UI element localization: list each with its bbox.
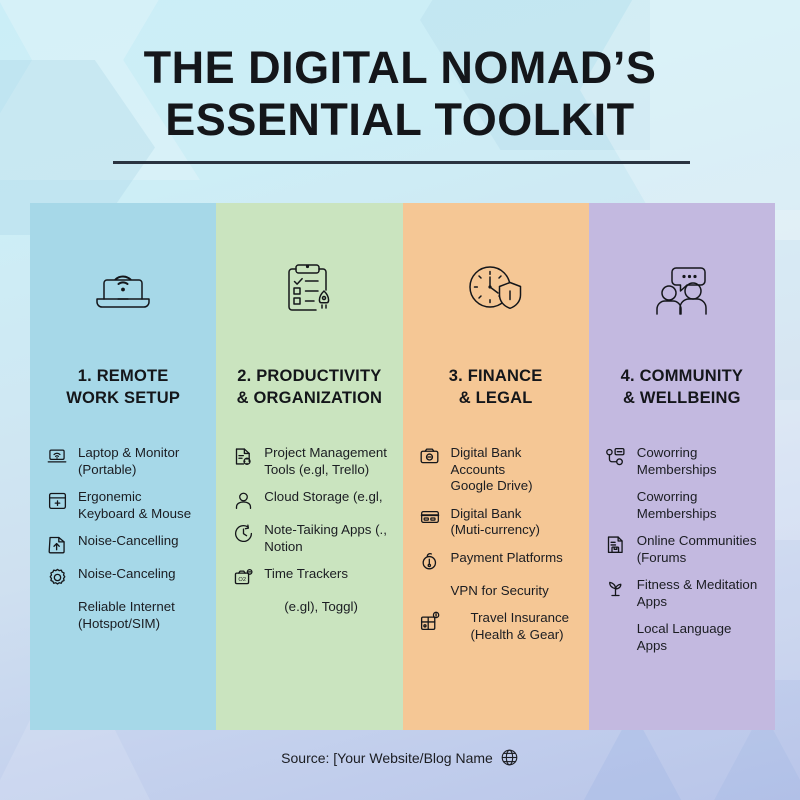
credit-card-icon bbox=[417, 506, 443, 528]
list-item-label: Fitness & Meditation Apps bbox=[637, 577, 763, 610]
laptop-wifi-icon bbox=[90, 257, 156, 323]
document-settings-icon bbox=[230, 445, 256, 467]
network-nodes-icon bbox=[603, 445, 629, 467]
browser-plus-icon bbox=[44, 489, 70, 511]
list-item-label: Local Language Apps bbox=[637, 621, 763, 654]
category-column-4: 4. COMMUNITY & WELLBEING Coworring Membe… bbox=[589, 203, 775, 730]
camera-icon bbox=[417, 445, 443, 467]
list-item: VPN for Security bbox=[417, 583, 577, 600]
source-label: Source: [Your Website/Blog Name bbox=[281, 750, 493, 766]
list-item-label: Payment Platforms bbox=[451, 550, 563, 567]
list-item: Travel Insurance (Health & Gear) bbox=[417, 610, 577, 643]
category-column-1: 1. REMOTE WORK SETUP Laptop & Monitor (P… bbox=[30, 203, 216, 730]
list-item: Project Management Tools (e.gl, Trello) bbox=[230, 445, 390, 478]
list-item-label: Travel Insurance (Health & Gear) bbox=[451, 610, 570, 643]
list-item: Local Language Apps bbox=[603, 621, 763, 654]
list-item: Note-Taiking Apps (., Notion bbox=[230, 522, 390, 555]
footer: Source: [Your Website/Blog Name bbox=[0, 748, 800, 767]
category-list-3: Digital Bank Accounts Google Drive) Digi… bbox=[403, 445, 589, 654]
category-title-4: 4. COMMUNITY & WELLBEING bbox=[615, 365, 749, 409]
list-item-label: Online Communities (Forums bbox=[637, 533, 757, 566]
list-item-label: Coworring Memberships bbox=[637, 445, 717, 478]
list-item: O2 Time Trackers bbox=[230, 566, 390, 588]
list-item-label: Coworring Memberships bbox=[637, 489, 763, 522]
category-columns: 1. REMOTE WORK SETUP Laptop & Monitor (P… bbox=[30, 203, 775, 730]
category-title-1: 1. REMOTE WORK SETUP bbox=[60, 365, 186, 409]
list-item: Online Communities (Forums bbox=[603, 533, 763, 566]
list-item-label: Digital Bank (Muti-currency) bbox=[451, 506, 540, 539]
list-item-label: Digital Bank Accounts Google Drive) bbox=[451, 445, 533, 495]
list-item: Reliable Internet (Hotspot/SIM) bbox=[44, 599, 204, 632]
category-list-2: Project Management Tools (e.gl, Trello) … bbox=[216, 445, 402, 627]
laptop-screen-icon bbox=[44, 445, 70, 467]
title-divider bbox=[113, 161, 690, 164]
list-item: (e.gl), Toggl) bbox=[230, 599, 390, 616]
list-item-label: Ergonemic Keyboard & Mouse bbox=[78, 489, 191, 522]
category-list-1: Laptop & Monitor (Portable) Ergonemic Ke… bbox=[30, 445, 216, 643]
list-item: Coworring Memberships bbox=[603, 489, 763, 522]
list-item: Digital Bank Accounts Google Drive) bbox=[417, 445, 577, 495]
list-item-label: Note-Taiking Apps (., Notion bbox=[264, 522, 387, 555]
category-list-4: Coworring MembershipsCoworring Membershi… bbox=[589, 445, 775, 665]
list-item-label: Reliable Internet (Hotspot/SIM) bbox=[78, 599, 175, 632]
wallet-tag-icon bbox=[417, 550, 443, 572]
category-column-2: 2. PRODUCTIVITY & ORGANIZATION Project M… bbox=[216, 203, 402, 730]
people-chat-icon bbox=[649, 257, 715, 323]
globe-icon bbox=[500, 748, 519, 767]
list-item: Laptop & Monitor (Portable) bbox=[44, 445, 204, 478]
list-item: Coworring Memberships bbox=[603, 445, 763, 478]
clipboard-checklist-rocket-icon bbox=[278, 257, 340, 323]
list-item-label: Noise-Cancelling bbox=[78, 533, 179, 550]
list-item: Cloud Storage (e.gl, bbox=[230, 489, 390, 511]
document-save-icon bbox=[603, 533, 629, 555]
list-item-label: (e.gl), Toggl) bbox=[264, 599, 358, 616]
list-item: Payment Platforms bbox=[417, 550, 577, 572]
list-item: Noise-Canceling bbox=[44, 566, 204, 588]
clock-shield-icon bbox=[462, 257, 530, 323]
list-item-label: Project Management Tools (e.gl, Trello) bbox=[264, 445, 387, 478]
plant-sprout-icon bbox=[603, 577, 629, 599]
category-title-3: 3. FINANCE & LEGAL bbox=[443, 365, 549, 409]
title-line-1: THE DIGITAL NOMAD’S bbox=[0, 42, 800, 94]
list-item-label: Time Trackers bbox=[264, 566, 348, 583]
page-title: THE DIGITAL NOMAD’S ESSENTIAL TOOLKIT bbox=[0, 42, 800, 146]
list-item: Noise-Cancelling bbox=[44, 533, 204, 555]
gear-icon bbox=[44, 566, 70, 588]
list-item: Ergonemic Keyboard & Mouse bbox=[44, 489, 204, 522]
user-icon bbox=[230, 489, 256, 511]
title-line-2: ESSENTIAL TOOLKIT bbox=[0, 94, 800, 146]
category-title-2: 2. PRODUCTIVITY & ORGANIZATION bbox=[231, 365, 388, 409]
clock-icon bbox=[230, 522, 256, 544]
camera-tag-icon: O2 bbox=[230, 566, 256, 588]
list-item-label: VPN for Security bbox=[451, 583, 549, 600]
category-column-3: 3. FINANCE & LEGAL Digital Bank Accounts… bbox=[403, 203, 589, 730]
list-item: Digital Bank (Muti-currency) bbox=[417, 506, 577, 539]
list-item: Fitness & Meditation Apps bbox=[603, 577, 763, 610]
lock-box-icon bbox=[417, 610, 443, 632]
infographic-poster: THE DIGITAL NOMAD’S ESSENTIAL TOOLKIT 1.… bbox=[0, 0, 800, 800]
list-item-label: Laptop & Monitor (Portable) bbox=[78, 445, 179, 478]
list-item-label: Noise-Canceling bbox=[78, 566, 176, 583]
upload-box-icon bbox=[44, 533, 70, 555]
svg-text:O2: O2 bbox=[238, 577, 246, 583]
list-item-label: Cloud Storage (e.gl, bbox=[264, 489, 382, 506]
